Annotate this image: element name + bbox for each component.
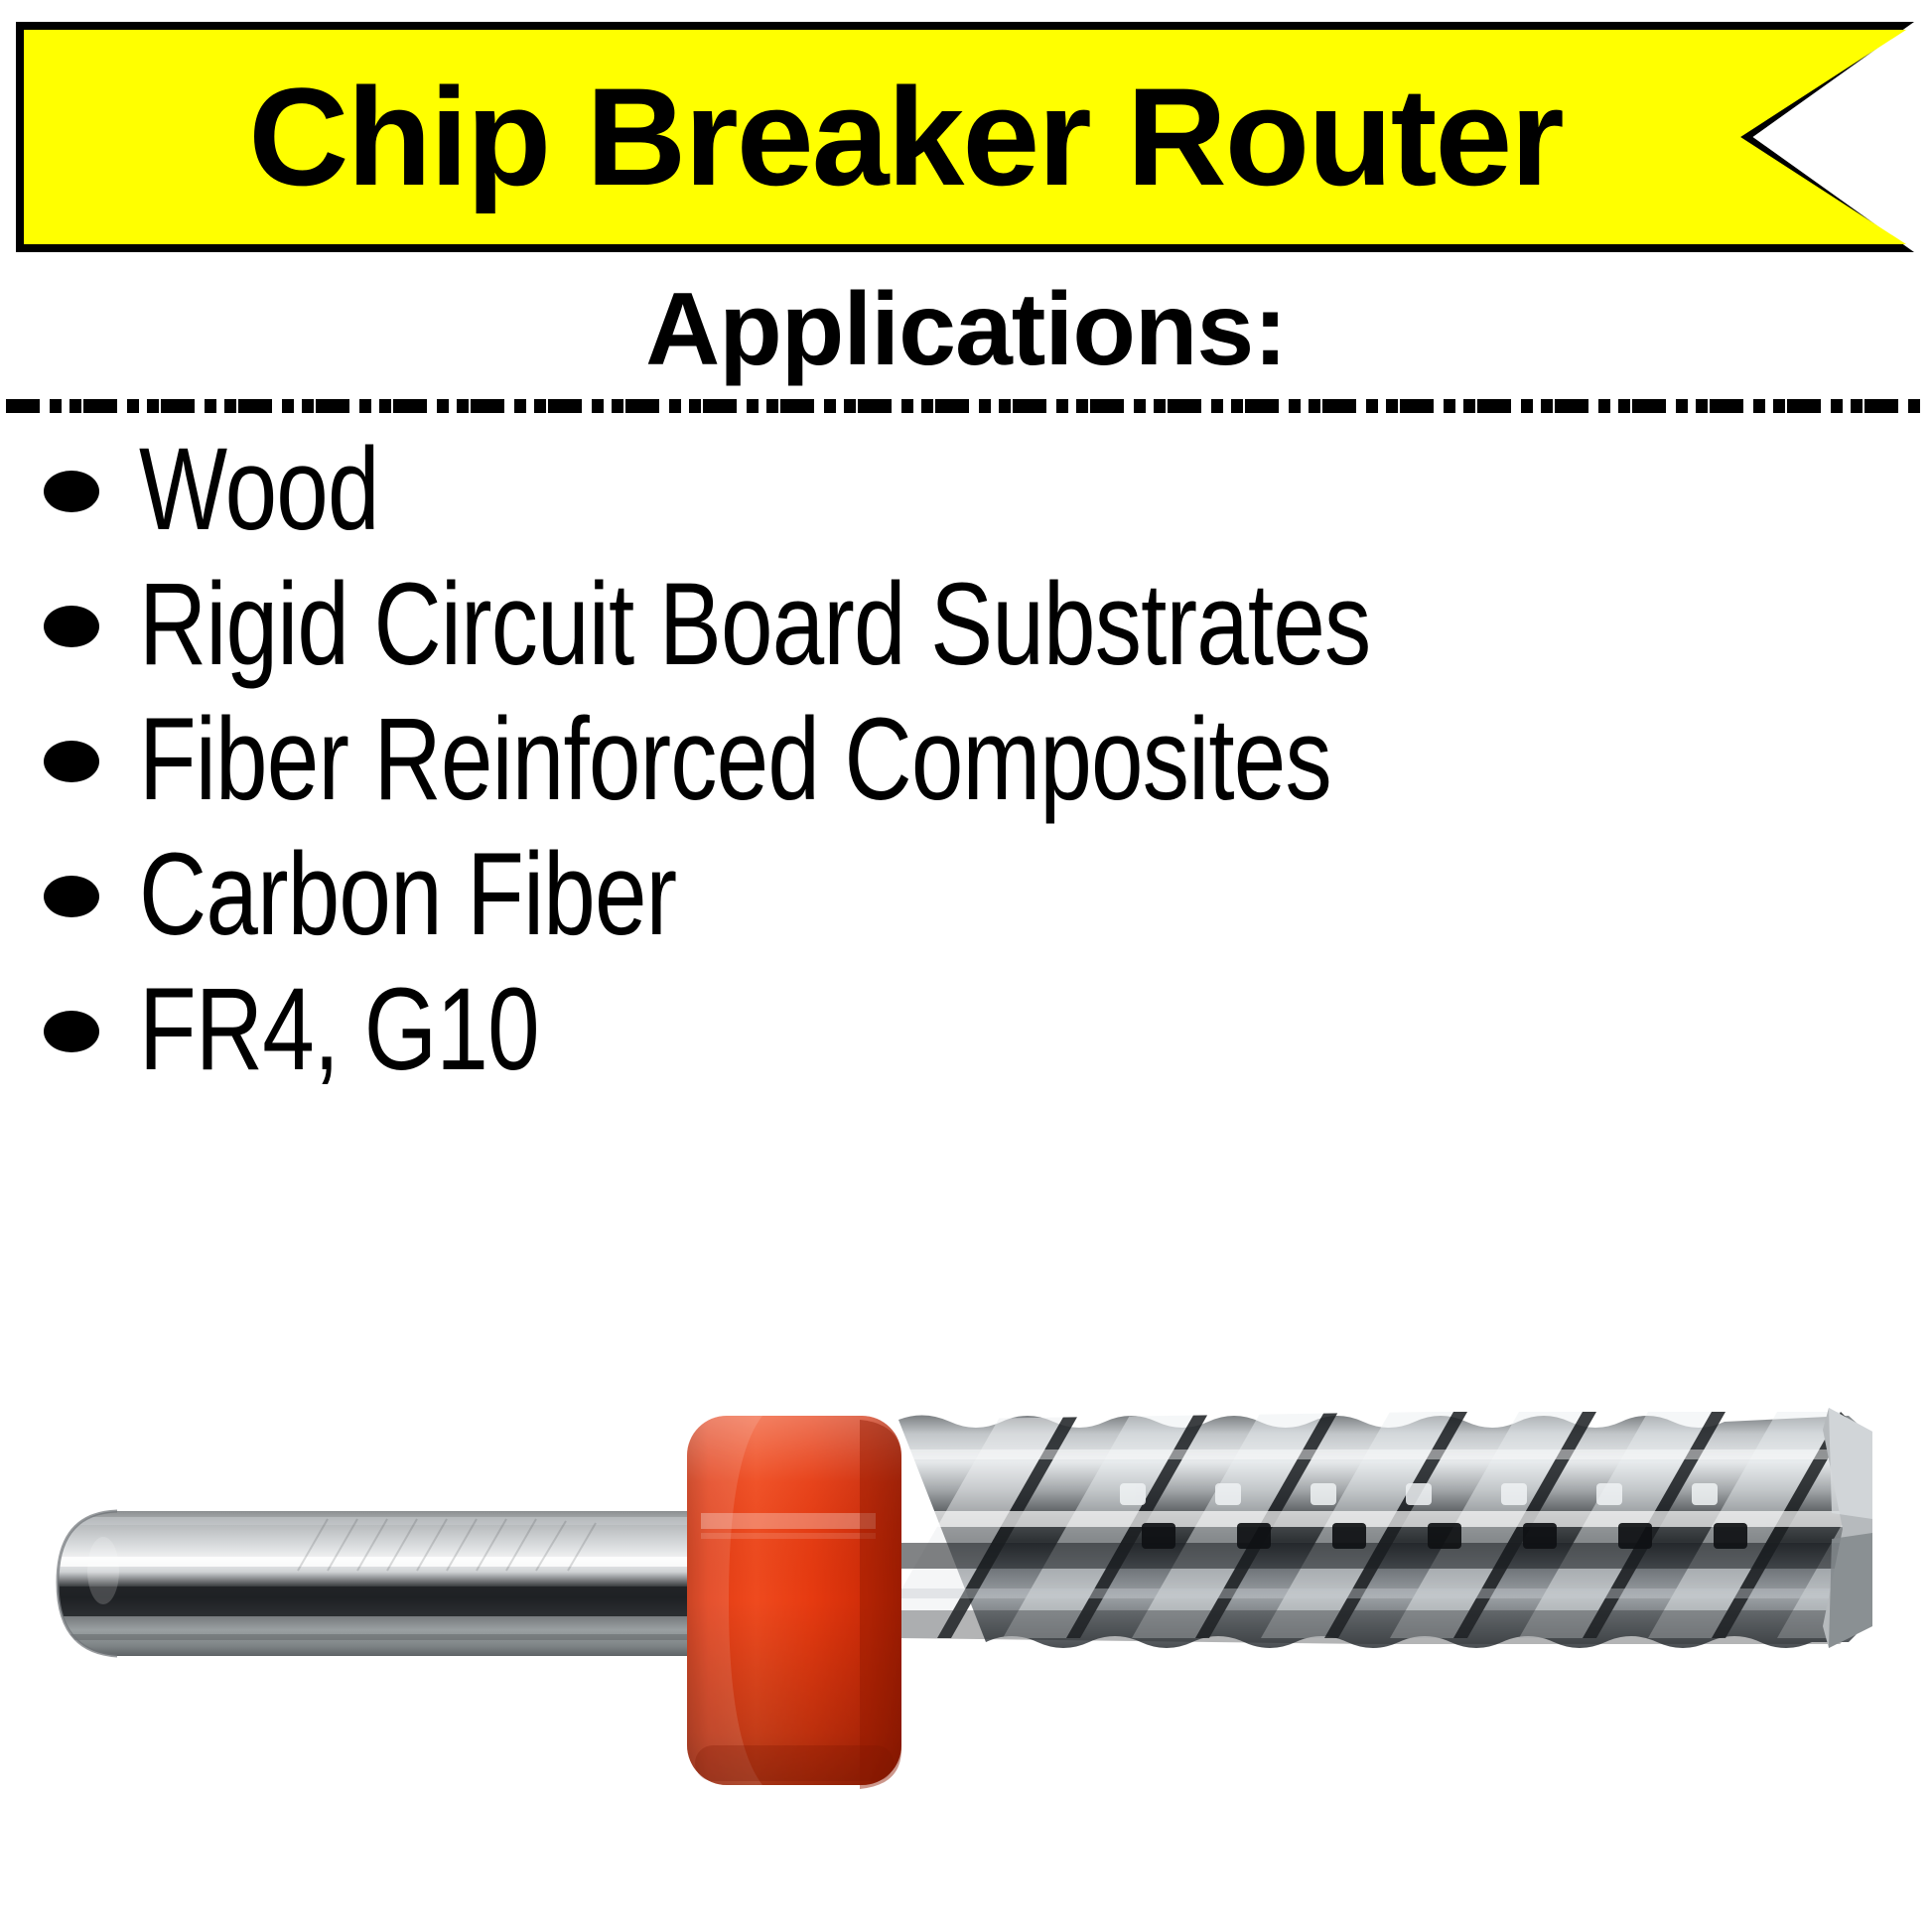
router-bit-depth-ring	[687, 1416, 901, 1789]
list-item: FR4, G10	[0, 967, 1932, 1102]
product-photo-router-bit	[0, 1122, 1932, 1932]
bullet-icon	[44, 1011, 99, 1052]
list-item: Wood	[0, 427, 1932, 562]
bullet-icon	[44, 606, 99, 647]
list-item: Fiber Reinforced Composites	[0, 697, 1932, 832]
bullet-icon	[44, 876, 99, 917]
list-item-label: Carbon Fiber	[139, 832, 1574, 957]
bullet-icon	[44, 741, 99, 782]
list-item: Carbon Fiber	[0, 832, 1932, 967]
page-title: Chip Breaker Router	[16, 68, 1914, 207]
bullet-icon	[44, 471, 99, 512]
router-bit-cutting-head	[874, 1408, 1932, 1648]
list-item: Rigid Circuit Board Substrates	[0, 562, 1932, 697]
list-item-label: FR4, G10	[139, 967, 1574, 1092]
applications-heading: Applications:	[0, 274, 1932, 385]
header-banner: Chip Breaker Router	[16, 22, 1914, 252]
applications-list: Wood Rigid Circuit Board Substrates Fibe…	[0, 427, 1932, 1102]
router-bit-shank	[58, 1511, 762, 1656]
list-item-label: Fiber Reinforced Composites	[139, 697, 1574, 822]
dash-dot-divider	[6, 397, 1926, 415]
list-item-label: Wood	[139, 427, 1574, 552]
list-item-label: Rigid Circuit Board Substrates	[139, 562, 1574, 687]
